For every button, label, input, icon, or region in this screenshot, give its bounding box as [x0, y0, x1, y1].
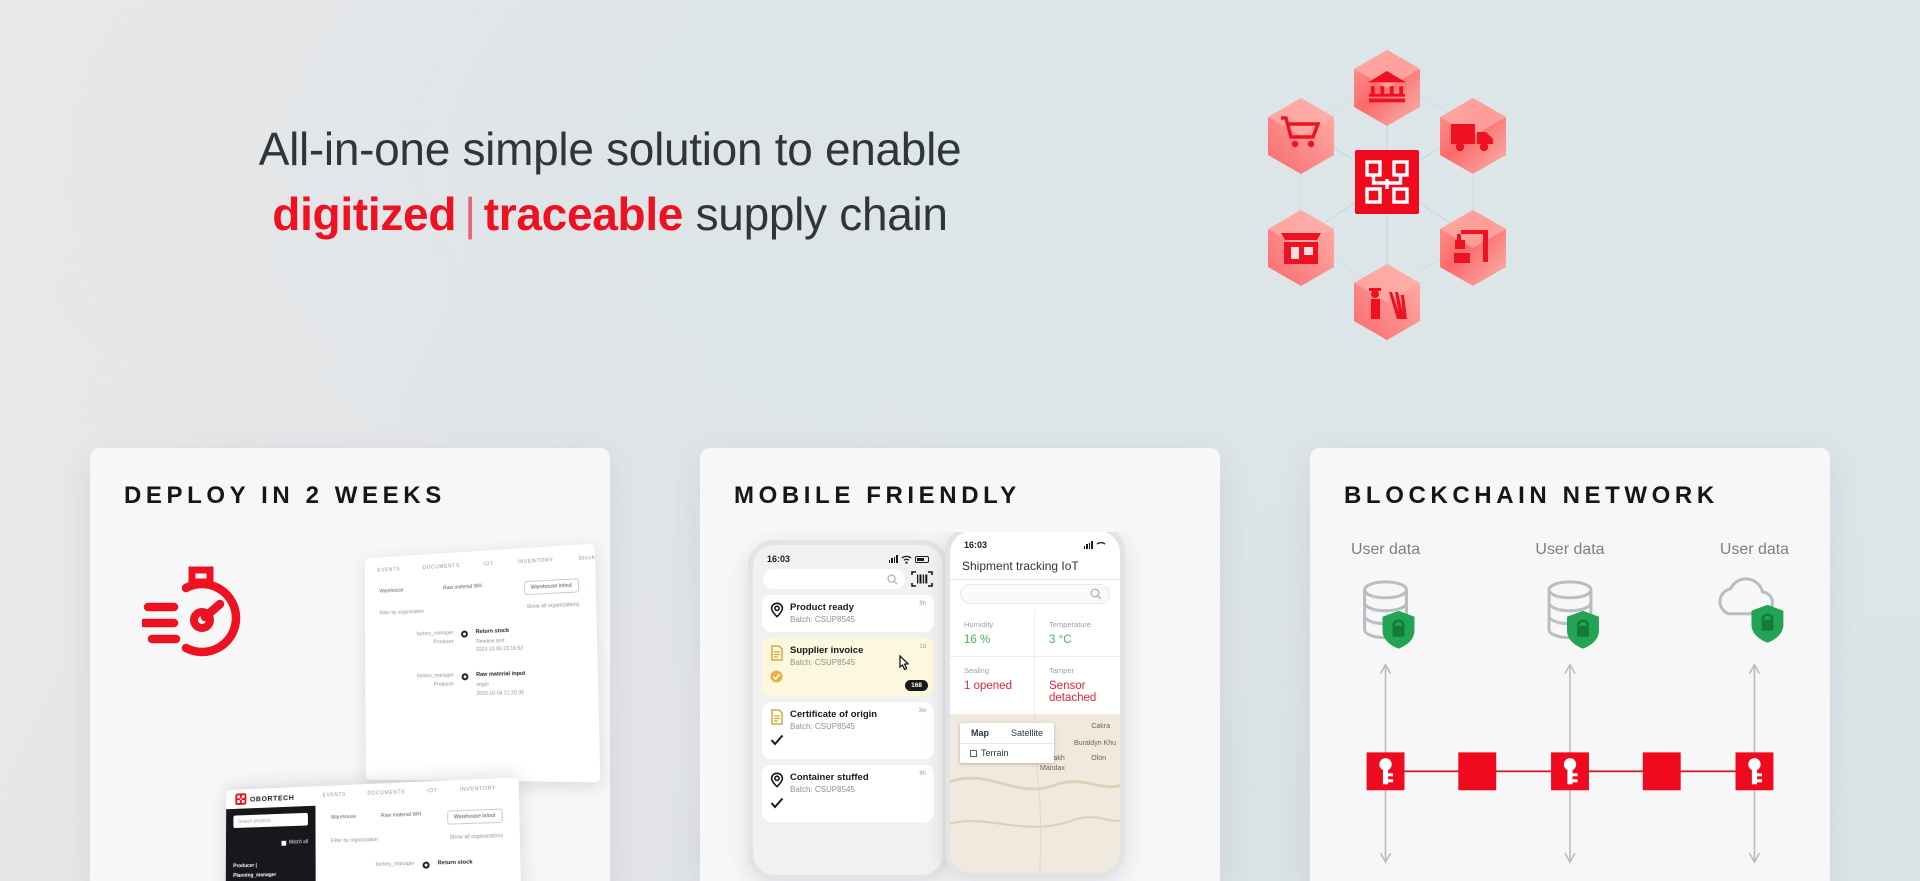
- card-deploy-body: EVENTS DOCUMENTS IOT INVENTORY Stock War…: [90, 532, 610, 881]
- check-icon: [770, 734, 784, 746]
- filter-warehouse-in-out[interactable]: Warehouse in/out: [524, 578, 580, 595]
- list-item[interactable]: 6h Container stuffed Batch: CSUP8545: [762, 765, 934, 822]
- item-subtitle: Batch: CSUP8545: [790, 658, 863, 667]
- card-mobile-body: 16:03: [700, 532, 1220, 881]
- metric-value: 1 opened: [964, 680, 1034, 692]
- event-title: Return stock: [475, 628, 509, 635]
- event-detail-block: Raw material input origin 2023-10-04 21:…: [476, 670, 526, 698]
- hex-node-crane: [1440, 210, 1506, 286]
- metric-label: Temperature: [1049, 620, 1120, 629]
- metric-label: Sealing: [964, 666, 1034, 675]
- app-main: Search projects... Match all Producer | …: [225, 798, 522, 881]
- shield-lock-icon: [1383, 611, 1415, 649]
- search-icon: [1090, 588, 1102, 600]
- metric-temperature: Temperature 3 °C: [1035, 611, 1120, 657]
- shield-lock-icon: [1751, 605, 1783, 643]
- terrain-label: Terrain: [981, 748, 1009, 758]
- card-deploy-in-2-weeks: DEPLOY IN 2 WEEKS EVENTS DOCUMENTS: [90, 448, 610, 881]
- sidebar-user-block: Producer | Planning_manager: [233, 861, 308, 881]
- card-title-mobile: MOBILE FRIENDLY: [700, 448, 1220, 510]
- tab-documents[interactable]: DOCUMENTS: [422, 563, 460, 571]
- chain-block-key: [1736, 752, 1774, 790]
- card-blockchain-network: BLOCKCHAIN NETWORK: [1310, 448, 1830, 881]
- location-pin-icon: [770, 602, 784, 618]
- hero-keyword-traceable: traceable: [484, 188, 683, 240]
- timeline-dot-icon: [461, 630, 468, 637]
- hero-headline-line2: digitized|traceable supply chain: [0, 185, 1220, 244]
- document-icon: [770, 709, 784, 725]
- event-actor-block: factory_manager Producer: [417, 629, 454, 657]
- blockchain-diagram: User data User data User data: [1310, 532, 1830, 881]
- item-title: Certificate of origin: [790, 709, 877, 720]
- status-bar: 16:03: [950, 532, 1120, 555]
- metric-value: 16 %: [964, 634, 1034, 646]
- search-projects-input[interactable]: Search projects...: [233, 813, 308, 828]
- filter-warehouse[interactable]: Warehouse: [379, 588, 403, 603]
- approved-check-icon: [770, 670, 783, 683]
- event-role: Producer: [417, 681, 454, 690]
- event-detail-block: Return stock Timeline test 2023-10-06 23…: [475, 626, 523, 655]
- item-subtitle: Batch: CSUP8545: [790, 785, 869, 794]
- user-data-label-3: User data: [1720, 541, 1789, 558]
- hero-headline-line1: All-in-one simple solution to enable: [0, 120, 1220, 179]
- event-list: 6h Product ready Batch: CSUP8545 1d: [753, 595, 943, 822]
- list-item[interactable]: 6h Product ready Batch: CSUP8545: [762, 595, 934, 632]
- stopwatch-icon: [142, 560, 260, 673]
- obortech-wordmark: OBORTECH: [250, 793, 294, 803]
- item-title: Product ready: [790, 602, 855, 613]
- terrain-toggle[interactable]: Terrain: [960, 743, 1054, 763]
- desktop-app-screenshot-top: EVENTS DOCUMENTS IOT INVENTORY Stock War…: [365, 544, 601, 783]
- chain-block-plain: [1643, 752, 1681, 790]
- checkbox-icon: [281, 840, 286, 845]
- phone-mockup-iot: 16:03 Shipment tracking IoT Humidity: [945, 532, 1125, 878]
- item-title: Container stuffed: [790, 772, 869, 783]
- event-title: Raw material input: [476, 671, 525, 678]
- hero-keyword-digitized: digitized: [272, 188, 456, 240]
- metric-value: Sensor detached: [1049, 680, 1120, 704]
- card-blockchain-body: User data User data User data: [1310, 532, 1830, 881]
- card-title-blockchain: BLOCKCHAIN NETWORK: [1310, 448, 1830, 510]
- metric-label: Tamper: [1049, 666, 1120, 675]
- item-subtitle: Batch: CSUP8545: [790, 615, 855, 624]
- search-input[interactable]: [763, 569, 905, 589]
- supply-chain-network-graphic: [1215, 22, 1560, 352]
- tab-inventory[interactable]: INVENTORY: [517, 557, 554, 565]
- timeline-event-row: factory_manager Return stock: [327, 839, 508, 871]
- match-all-label: Match all: [289, 839, 308, 845]
- metric-label: Humidity: [964, 620, 1034, 629]
- tab-documents[interactable]: DOCUMENTS: [367, 789, 405, 796]
- map-label: Cakra: [1091, 723, 1110, 730]
- metric-value: 3 °C: [1049, 634, 1120, 646]
- iot-page-title: Shipment tracking IoT: [950, 555, 1120, 580]
- hex-node-shopping-cart: [1268, 98, 1334, 174]
- event-title: Return stock: [438, 859, 473, 866]
- map-label: Mandax: [1040, 765, 1065, 772]
- hex-node-truck: [1440, 98, 1506, 174]
- status-time: 16:03: [964, 540, 987, 550]
- list-item[interactable]: 3w Certificate of origin Batch: CSUP8545: [762, 702, 934, 759]
- event-role: Producer: [417, 638, 454, 648]
- tab-inventory[interactable]: INVENTORY: [460, 785, 496, 793]
- map-label: Olon: [1091, 755, 1106, 762]
- timeline-dot-icon: [462, 673, 469, 680]
- item-time: 3w: [918, 708, 926, 714]
- search-icon: [887, 574, 898, 585]
- app-sidebar: Search projects... Match all Producer | …: [225, 806, 316, 881]
- location-pin-icon: [770, 772, 784, 788]
- hero-text-block: All-in-one simple solution to enable dig…: [0, 120, 1220, 244]
- app-content: Warehouse Raw material WH Warehouse in/o…: [315, 798, 522, 881]
- item-time: 1d: [919, 644, 926, 650]
- obortech-logo-icon: [235, 793, 246, 805]
- chain-block-plain: [1458, 752, 1496, 790]
- filter-warehouse[interactable]: Warehouse: [331, 814, 356, 829]
- card-title-deploy: DEPLOY IN 2 WEEKS: [90, 448, 610, 510]
- battery-icon: [915, 556, 929, 563]
- blockchain-node-icon: [1355, 150, 1419, 214]
- app-tabs: EVENTS DOCUMENTS IOT INVENTORY: [323, 785, 496, 798]
- search-input[interactable]: [960, 584, 1110, 604]
- feature-cards: DEPLOY IN 2 WEEKS EVENTS DOCUMENTS: [0, 448, 1920, 881]
- hex-node-farmer: [1354, 264, 1420, 340]
- item-time: 6h: [919, 601, 926, 607]
- map-type-control[interactable]: Map Satellite Terrain: [960, 723, 1054, 763]
- check-icon: [770, 797, 784, 809]
- tab-iot[interactable]: IOT: [427, 788, 438, 794]
- event-detail-block: Return stock: [438, 858, 473, 868]
- search-row: [753, 569, 943, 589]
- tab-events[interactable]: EVENTS: [323, 792, 346, 799]
- cursor-pointer-icon: [896, 654, 912, 674]
- filter-raw-material[interactable]: Raw material WH: [443, 583, 482, 599]
- timeline-event-row: factory_manager Producer Raw material in…: [365, 652, 598, 701]
- filter-warehouse-in-out[interactable]: Warehouse in/out: [447, 809, 503, 825]
- map-view[interactable]: Cakra Buraldyn Khu Olon Mandakh Mandax M…: [950, 715, 1120, 873]
- tab-events[interactable]: EVENTS: [377, 567, 400, 574]
- status-indicators: [1084, 541, 1106, 550]
- match-all-checkbox[interactable]: Match all: [233, 839, 308, 847]
- chain-block-key: [1551, 752, 1589, 790]
- shield-lock-icon: [1567, 611, 1599, 649]
- hex-node-storefront: [1268, 210, 1334, 286]
- user-data-label-2: User data: [1535, 541, 1604, 558]
- status-indicators: [889, 555, 929, 564]
- item-subtitle: Batch: CSUP8545: [790, 722, 877, 731]
- tab-iot[interactable]: IOT: [483, 561, 494, 568]
- signal-icon: [1084, 541, 1093, 549]
- list-item[interactable]: 1d Supplier invoice Batch: CSUP8545 168: [762, 638, 934, 696]
- event-actor: factory_manager: [376, 860, 415, 870]
- phone-mockup-events: 16:03: [748, 540, 948, 880]
- signal-icon: [889, 555, 898, 563]
- metric-humidity: Humidity 16 %: [950, 611, 1035, 657]
- metric-sealing: Sealing 1 opened: [950, 657, 1035, 715]
- desktop-app-screenshot-bottom: OBORTECH EVENTS DOCUMENTS IOT INVENTORY …: [225, 777, 522, 881]
- barcode-scan-icon: [911, 570, 933, 588]
- tab-stock[interactable]: Stock: [578, 555, 595, 562]
- checkbox-icon: [970, 750, 977, 757]
- event-actor-block: factory_manager: [376, 860, 415, 870]
- satellite-button[interactable]: Satellite: [1000, 723, 1054, 743]
- filter-raw-material[interactable]: Raw material WH: [381, 812, 421, 827]
- event-time: 2023-10-06 23:16:52: [476, 645, 524, 655]
- metric-tamper: Tamper Sensor detached: [1035, 657, 1120, 715]
- item-title: Supplier invoice: [790, 645, 863, 656]
- wifi-icon: [901, 555, 912, 564]
- item-badge: 168: [905, 680, 928, 691]
- hero-headline-rest: supply chain: [683, 188, 948, 240]
- event-actor-block: factory_manager Producer: [417, 672, 454, 700]
- hex-node-bank: [1354, 50, 1420, 126]
- event-time: 2023-10-04 21:20:35: [476, 689, 525, 699]
- map-button[interactable]: Map: [960, 723, 1000, 743]
- status-time: 16:03: [767, 554, 790, 564]
- item-time: 6h: [919, 771, 926, 777]
- status-bar: 16:03: [753, 545, 943, 569]
- user-data-label-1: User data: [1351, 541, 1420, 558]
- user-role-line2: Planning_manager: [233, 870, 308, 881]
- document-icon: [770, 645, 784, 661]
- wifi-icon: [1096, 541, 1106, 550]
- chain-block-key: [1367, 752, 1405, 790]
- map-label: Buraldyn Khu: [1074, 740, 1116, 747]
- card-mobile-friendly: MOBILE FRIENDLY 16:03: [700, 448, 1220, 881]
- hero-divider: |: [456, 188, 484, 240]
- timeline-dot-icon: [422, 862, 429, 869]
- iot-metric-grid: Humidity 16 % Temperature 3 °C Sealing 1…: [950, 611, 1120, 715]
